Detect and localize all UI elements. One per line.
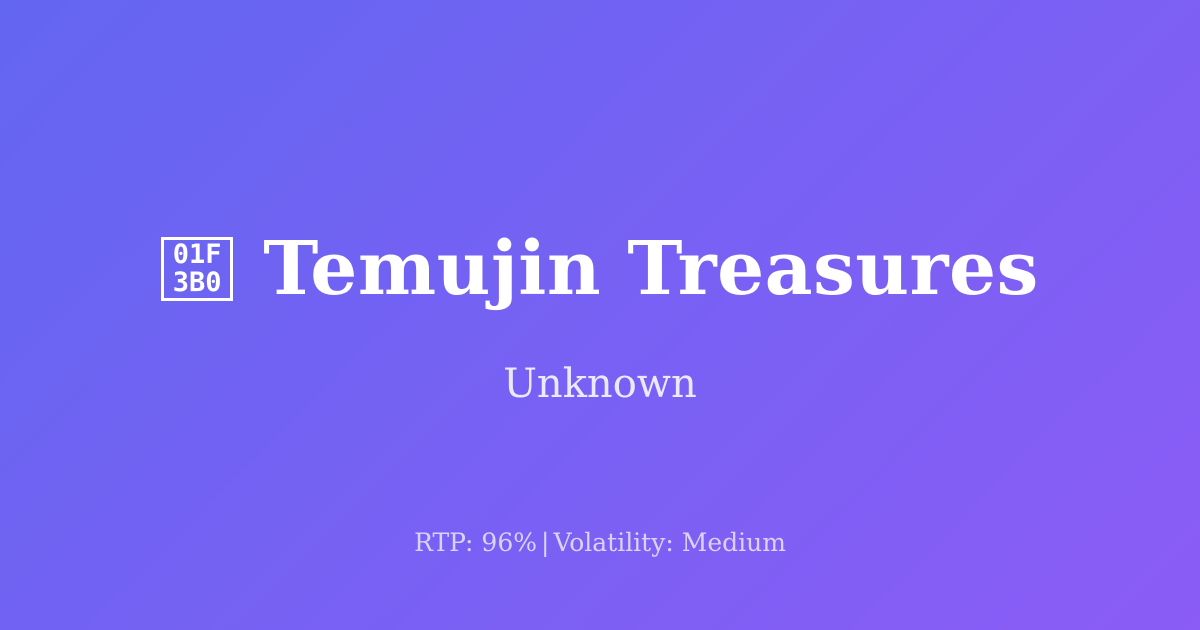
slot-machine-icon: 01F 3B0 xyxy=(161,237,233,301)
page-title: Temujin Treasures xyxy=(263,232,1039,306)
codepoint-row-lower: 3B0 xyxy=(173,269,222,297)
title-row: 01F 3B0 Temujin Treasures xyxy=(0,232,1200,306)
rtp-value: RTP: 96% xyxy=(414,528,537,557)
og-share-card: 01F 3B0 Temujin Treasures Unknown RTP: 9… xyxy=(0,0,1200,630)
codepoint-row-upper: 01F xyxy=(173,241,222,269)
card-subtitle: Unknown xyxy=(0,362,1200,406)
volatility-value: Volatility: Medium xyxy=(553,528,785,557)
meta-separator: | xyxy=(537,528,553,557)
card-meta: RTP: 96%|Volatility: Medium xyxy=(0,528,1200,558)
